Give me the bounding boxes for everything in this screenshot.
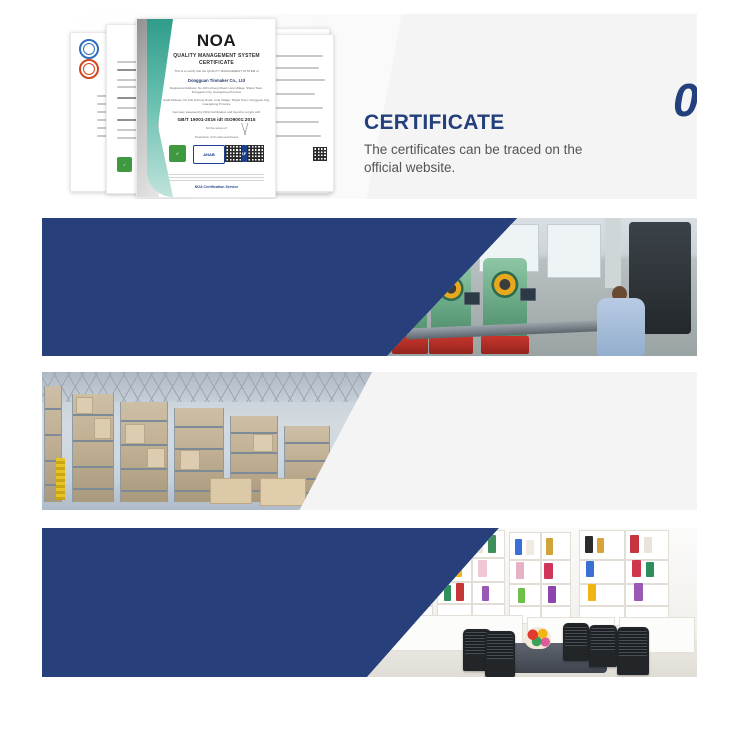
storage-rack	[72, 394, 114, 502]
qr-code-icon-left	[225, 145, 242, 162]
certificate-stack-image: ✓	[70, 18, 332, 196]
office-chair	[485, 631, 515, 677]
certificate-company: Dongguan Tinmaker Co., Ltd	[163, 78, 270, 83]
panel-desc-certificate: The certificates can be traced on the of…	[364, 141, 608, 177]
qr-code-icon	[313, 147, 327, 161]
worker-body	[597, 298, 645, 356]
display-shelf	[509, 532, 571, 624]
sample-room-image	[367, 528, 697, 677]
certificate-document-back-right	[266, 34, 334, 192]
panel-title-certificate: CERTIFICATE	[364, 111, 608, 135]
flower-arrangement	[525, 627, 551, 649]
office-chair	[617, 627, 649, 675]
pallet-load	[210, 478, 252, 504]
certificate-document-noa: NOA QUALITY MANAGEMENT SYSTEM CERTIFICAT…	[136, 18, 276, 198]
panel-equipments: 02 EQUIPMENTS Advanced printing machines…	[42, 218, 697, 356]
certificate-footer: NOA Certification Service	[163, 185, 270, 189]
factory-machines-image	[387, 218, 697, 356]
accreditation-logos: ✓ ANAB IAF	[167, 145, 266, 165]
anab-logo: ANAB	[193, 145, 225, 164]
pallet-load	[260, 478, 306, 506]
display-shelf	[391, 534, 433, 622]
certificate-standard: GB/T 19001-2016 idt ISO9001:2015	[163, 117, 270, 122]
certificate-fineprint	[169, 174, 264, 181]
eco-badge-icon: ✓	[117, 157, 132, 172]
qr-code-icon-right	[247, 145, 264, 162]
certificate-address-1: Registered Address: No.100 Licheng Road,…	[163, 86, 270, 94]
certificate-heading-line1: QUALITY MANAGEMENT SYSTEM	[173, 53, 260, 59]
panel-number-01: 01	[673, 77, 697, 123]
pallet-stack	[56, 458, 65, 500]
signature-icon	[228, 123, 262, 135]
certificate-subheading: This is to certify that the QUALITY MANA…	[163, 69, 270, 73]
noa-logo: NOA	[197, 31, 236, 51]
feature-panels-page: ✓	[0, 0, 750, 739]
certificate-heading-line2: CERTIFICATE	[199, 60, 234, 66]
panel-certificate: ✓	[42, 14, 697, 199]
panel-stock: 03 STOCK Sufficient stock gets delivery …	[42, 372, 697, 510]
certificate-scope: Production of tin cans and boxes	[163, 135, 270, 139]
cnas-badge-icon: ✓	[169, 145, 186, 162]
panel-sample-room: 04 SAMPLE ROOM With all kinds of samples…	[42, 528, 697, 677]
display-shelf	[579, 530, 669, 626]
certificate-conformity: has been assessed by NOA Certification a…	[163, 110, 270, 114]
display-shelf	[437, 530, 505, 624]
office-chair	[589, 625, 617, 667]
certificate-heading: QUALITY MANAGEMENT SYSTEM CERTIFICATE	[163, 53, 270, 67]
warehouse-image	[42, 372, 372, 510]
storage-rack	[120, 402, 168, 502]
office-chair	[563, 623, 589, 661]
certificate-address-2: Audit Address: No.100 Licheng Road, Lixi…	[163, 98, 270, 106]
panel-text-certificate: CERTIFICATE The certificates can be trac…	[364, 111, 608, 177]
